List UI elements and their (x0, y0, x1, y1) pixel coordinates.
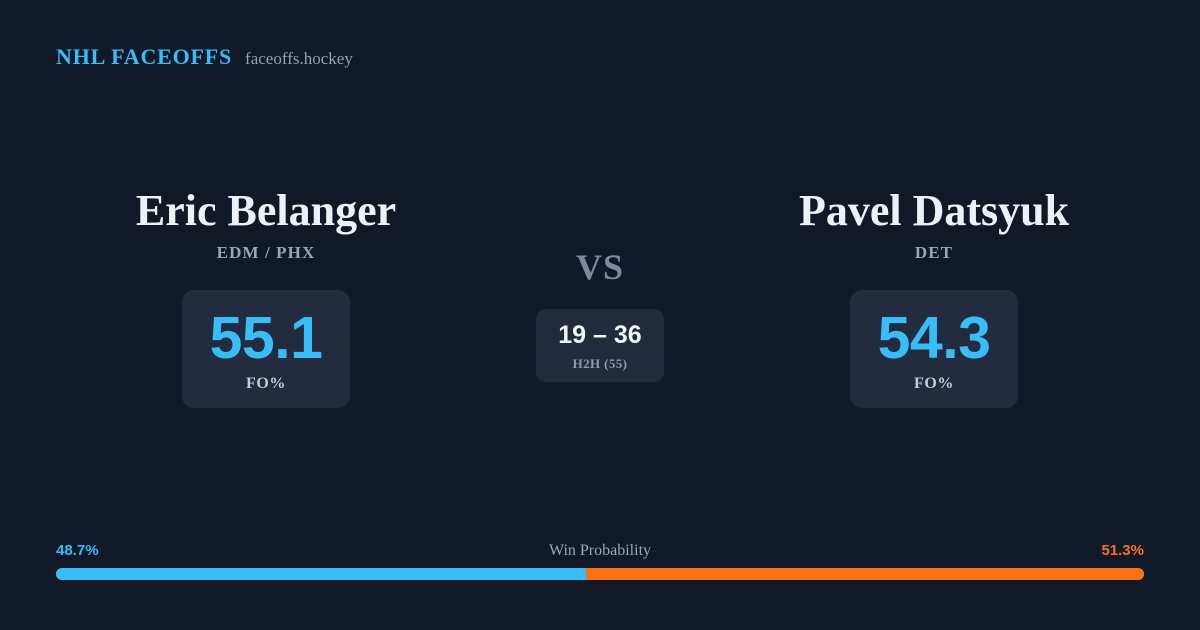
win-probability-left-value: 48.7% (56, 543, 99, 558)
versus-column: VS 19 – 36 H2H (55) (500, 186, 700, 382)
faceoff-percentage-left: 55.1 (210, 308, 323, 368)
win-probability-title: Win Probability (549, 543, 651, 559)
stat-card-right: 54.3 FO% (850, 290, 1019, 408)
player-name-right: Pavel Datsyuk (799, 186, 1069, 235)
matchup-row: Eric Belanger EDM / PHX 55.1 FO% VS 19 –… (0, 186, 1200, 408)
win-probability-labels: 48.7% Win Probability 51.3% (56, 543, 1144, 558)
player-card-right: Pavel Datsyuk DET 54.3 FO% (700, 186, 1168, 408)
faceoff-percentage-right: 54.3 (878, 308, 991, 368)
stat-label-right: FO% (914, 376, 954, 392)
player-card-left: Eric Belanger EDM / PHX 55.1 FO% (32, 186, 500, 408)
head-to-head-chip: 19 – 36 H2H (55) (536, 309, 663, 382)
win-probability-section: 48.7% Win Probability 51.3% (56, 543, 1144, 580)
player-teams-left: EDM / PHX (217, 244, 316, 261)
matchup-graphic: NHL FACEOFFS faceoffs.hockey Eric Belang… (0, 0, 1200, 630)
player-teams-right: DET (915, 244, 953, 261)
win-probability-bar-right (586, 568, 1144, 580)
head-to-head-record: 19 – 36 (558, 323, 641, 348)
win-probability-bar-left (56, 568, 586, 580)
brand-header: NHL FACEOFFS faceoffs.hockey (56, 46, 353, 68)
brand-domain: faceoffs.hockey (245, 50, 353, 67)
win-probability-bar (56, 568, 1144, 580)
stat-card-left: 55.1 FO% (182, 290, 351, 408)
brand-title: NHL FACEOFFS (56, 46, 232, 68)
stat-label-left: FO% (246, 376, 286, 392)
player-name-left: Eric Belanger (136, 186, 396, 235)
win-probability-right-value: 51.3% (1101, 543, 1144, 558)
versus-label: VS (576, 249, 624, 285)
head-to-head-label: H2H (55) (573, 357, 628, 370)
